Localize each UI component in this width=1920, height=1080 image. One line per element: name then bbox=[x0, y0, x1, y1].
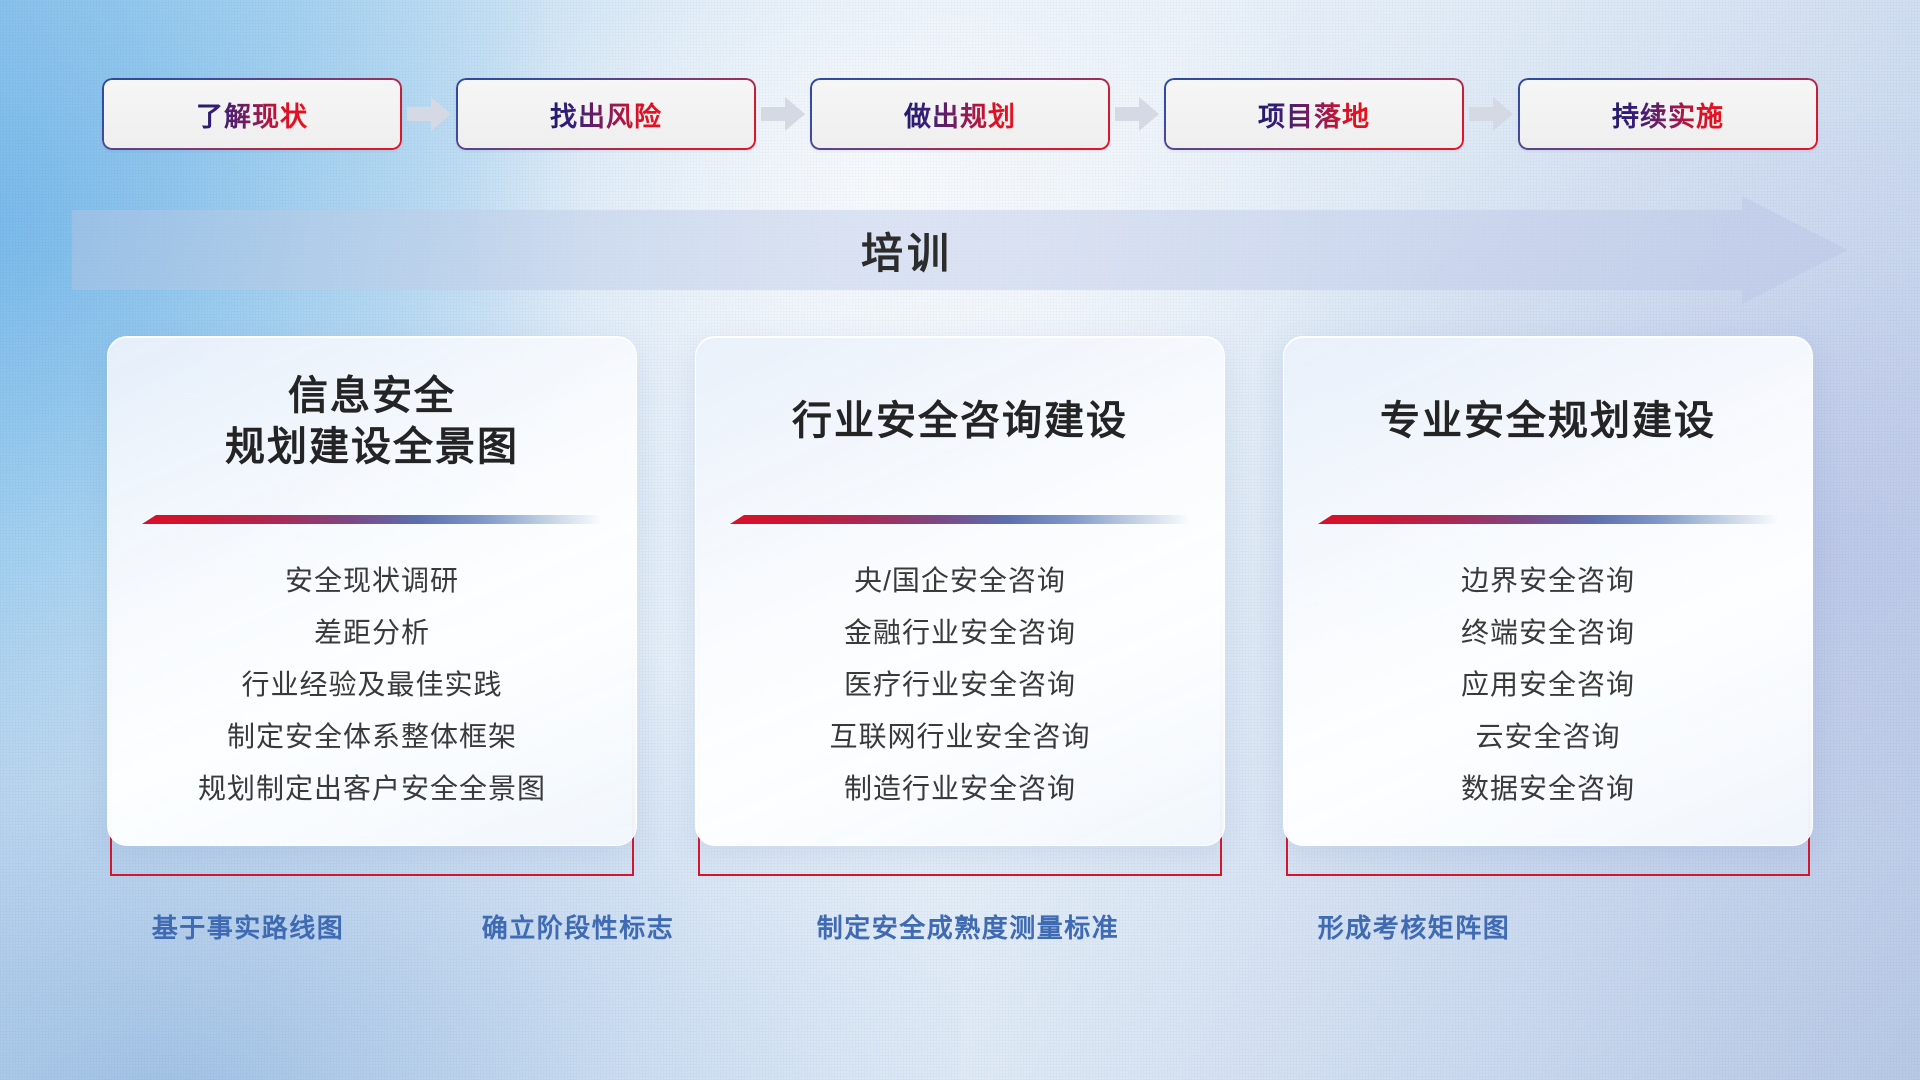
step-2-wrapper: 找出风险 bbox=[456, 78, 810, 150]
list-item: 应用安全咨询 bbox=[1461, 664, 1635, 706]
list-item: 互联网行业安全咨询 bbox=[829, 716, 1090, 758]
list-item: 云安全咨询 bbox=[1475, 716, 1620, 758]
arrow-right-icon bbox=[1110, 78, 1164, 150]
step-box-4[interactable]: 项目落地 bbox=[1164, 78, 1464, 150]
process-step-flow: 了解现状 找出风险 做出规划 项目落地 bbox=[0, 78, 1920, 150]
card-body-2: 行业安全咨询建设 央/国企安全咨询 金融行业安全咨询 医疗行业安全咨询 互联网行… bbox=[695, 336, 1225, 846]
list-item: 终端安全咨询 bbox=[1461, 612, 1635, 654]
list-item: 医疗行业安全咨询 bbox=[844, 664, 1076, 706]
training-banner: 培训 bbox=[72, 196, 1848, 304]
step-box-5[interactable]: 持续实施 bbox=[1518, 78, 1818, 150]
step-box-2[interactable]: 找出风险 bbox=[456, 78, 756, 150]
list-item: 制造行业安全咨询 bbox=[844, 768, 1076, 810]
list-item: 行业经验及最佳实践 bbox=[241, 664, 502, 706]
service-card-2[interactable]: 行业安全咨询建设 央/国企安全咨询 金融行业安全咨询 医疗行业安全咨询 互联网行… bbox=[695, 336, 1225, 876]
arrow-right-icon bbox=[402, 78, 456, 150]
step-label-4: 项目落地 bbox=[1258, 95, 1370, 134]
list-item: 差距分析 bbox=[314, 612, 430, 654]
card-list-2: 央/国企安全咨询 金融行业安全咨询 医疗行业安全咨询 互联网行业安全咨询 制造行… bbox=[696, 552, 1224, 827]
arrow-right-icon bbox=[756, 78, 810, 150]
card-body-1: 信息安全 规划建设全景图 安全现状调研 差距分析 行业经验及最佳实践 制定安全体… bbox=[107, 336, 637, 846]
card-divider-3 bbox=[1318, 515, 1778, 524]
card-list-3: 边界安全咨询 终端安全咨询 应用安全咨询 云安全咨询 数据安全咨询 bbox=[1284, 552, 1812, 827]
card-title-line-1: 信息安全 bbox=[288, 371, 456, 422]
step-3-wrapper: 做出规划 bbox=[810, 78, 1164, 150]
list-item: 数据安全咨询 bbox=[1461, 768, 1635, 810]
list-item: 规划制定出客户安全全景图 bbox=[198, 768, 546, 810]
caption-4: 形成考核矩阵图 bbox=[1318, 908, 1511, 945]
service-card-row: 信息安全 规划建设全景图 安全现状调研 差距分析 行业经验及最佳实践 制定安全体… bbox=[0, 336, 1920, 876]
card-divider-1 bbox=[142, 515, 602, 524]
list-item: 金融行业安全咨询 bbox=[844, 612, 1076, 654]
card-title-2: 行业安全咨询建设 bbox=[696, 337, 1224, 507]
card-title-1: 信息安全 规划建设全景图 bbox=[108, 337, 636, 507]
card-title-line-2: 规划建设全景图 bbox=[225, 422, 519, 473]
card-title-line-1: 专业安全规划建设 bbox=[1380, 396, 1716, 447]
service-card-1[interactable]: 信息安全 规划建设全景图 安全现状调研 差距分析 行业经验及最佳实践 制定安全体… bbox=[107, 336, 637, 876]
step-label-5: 持续实施 bbox=[1612, 95, 1724, 134]
list-item: 边界安全咨询 bbox=[1461, 560, 1635, 602]
step-box-1[interactable]: 了解现状 bbox=[102, 78, 402, 150]
step-label-3: 做出规划 bbox=[904, 95, 1016, 134]
arrow-right-icon bbox=[1464, 78, 1518, 150]
list-item: 制定安全体系整体框架 bbox=[227, 716, 517, 758]
card-title-line-1: 行业安全咨询建设 bbox=[792, 396, 1128, 447]
card-divider-2 bbox=[730, 515, 1190, 524]
list-item: 央/国企安全咨询 bbox=[854, 560, 1066, 602]
step-1-wrapper: 了解现状 bbox=[102, 78, 456, 150]
step-label-1: 了解现状 bbox=[196, 95, 308, 134]
step-label-2: 找出风险 bbox=[550, 95, 662, 134]
list-item: 安全现状调研 bbox=[285, 560, 459, 602]
service-card-3[interactable]: 专业安全规划建设 边界安全咨询 终端安全咨询 应用安全咨询 云安全咨询 数据安全… bbox=[1283, 336, 1813, 876]
caption-1: 基于事实路线图 bbox=[152, 908, 345, 945]
card-body-3: 专业安全规划建设 边界安全咨询 终端安全咨询 应用安全咨询 云安全咨询 数据安全… bbox=[1283, 336, 1813, 846]
caption-row: 基于事实路线图 确立阶段性标志 制定安全成熟度测量标准 形成考核矩阵图 bbox=[0, 908, 1920, 956]
step-4-wrapper: 项目落地 bbox=[1164, 78, 1518, 150]
card-title-3: 专业安全规划建设 bbox=[1284, 337, 1812, 507]
step-5-wrapper: 持续实施 bbox=[1518, 78, 1818, 150]
banner-title: 培训 bbox=[72, 196, 1742, 304]
card-list-1: 安全现状调研 差距分析 行业经验及最佳实践 制定安全体系整体框架 规划制定出客户… bbox=[108, 552, 636, 827]
step-box-3[interactable]: 做出规划 bbox=[810, 78, 1110, 150]
caption-2: 确立阶段性标志 bbox=[482, 908, 675, 945]
caption-3: 制定安全成熟度测量标准 bbox=[817, 908, 1120, 945]
